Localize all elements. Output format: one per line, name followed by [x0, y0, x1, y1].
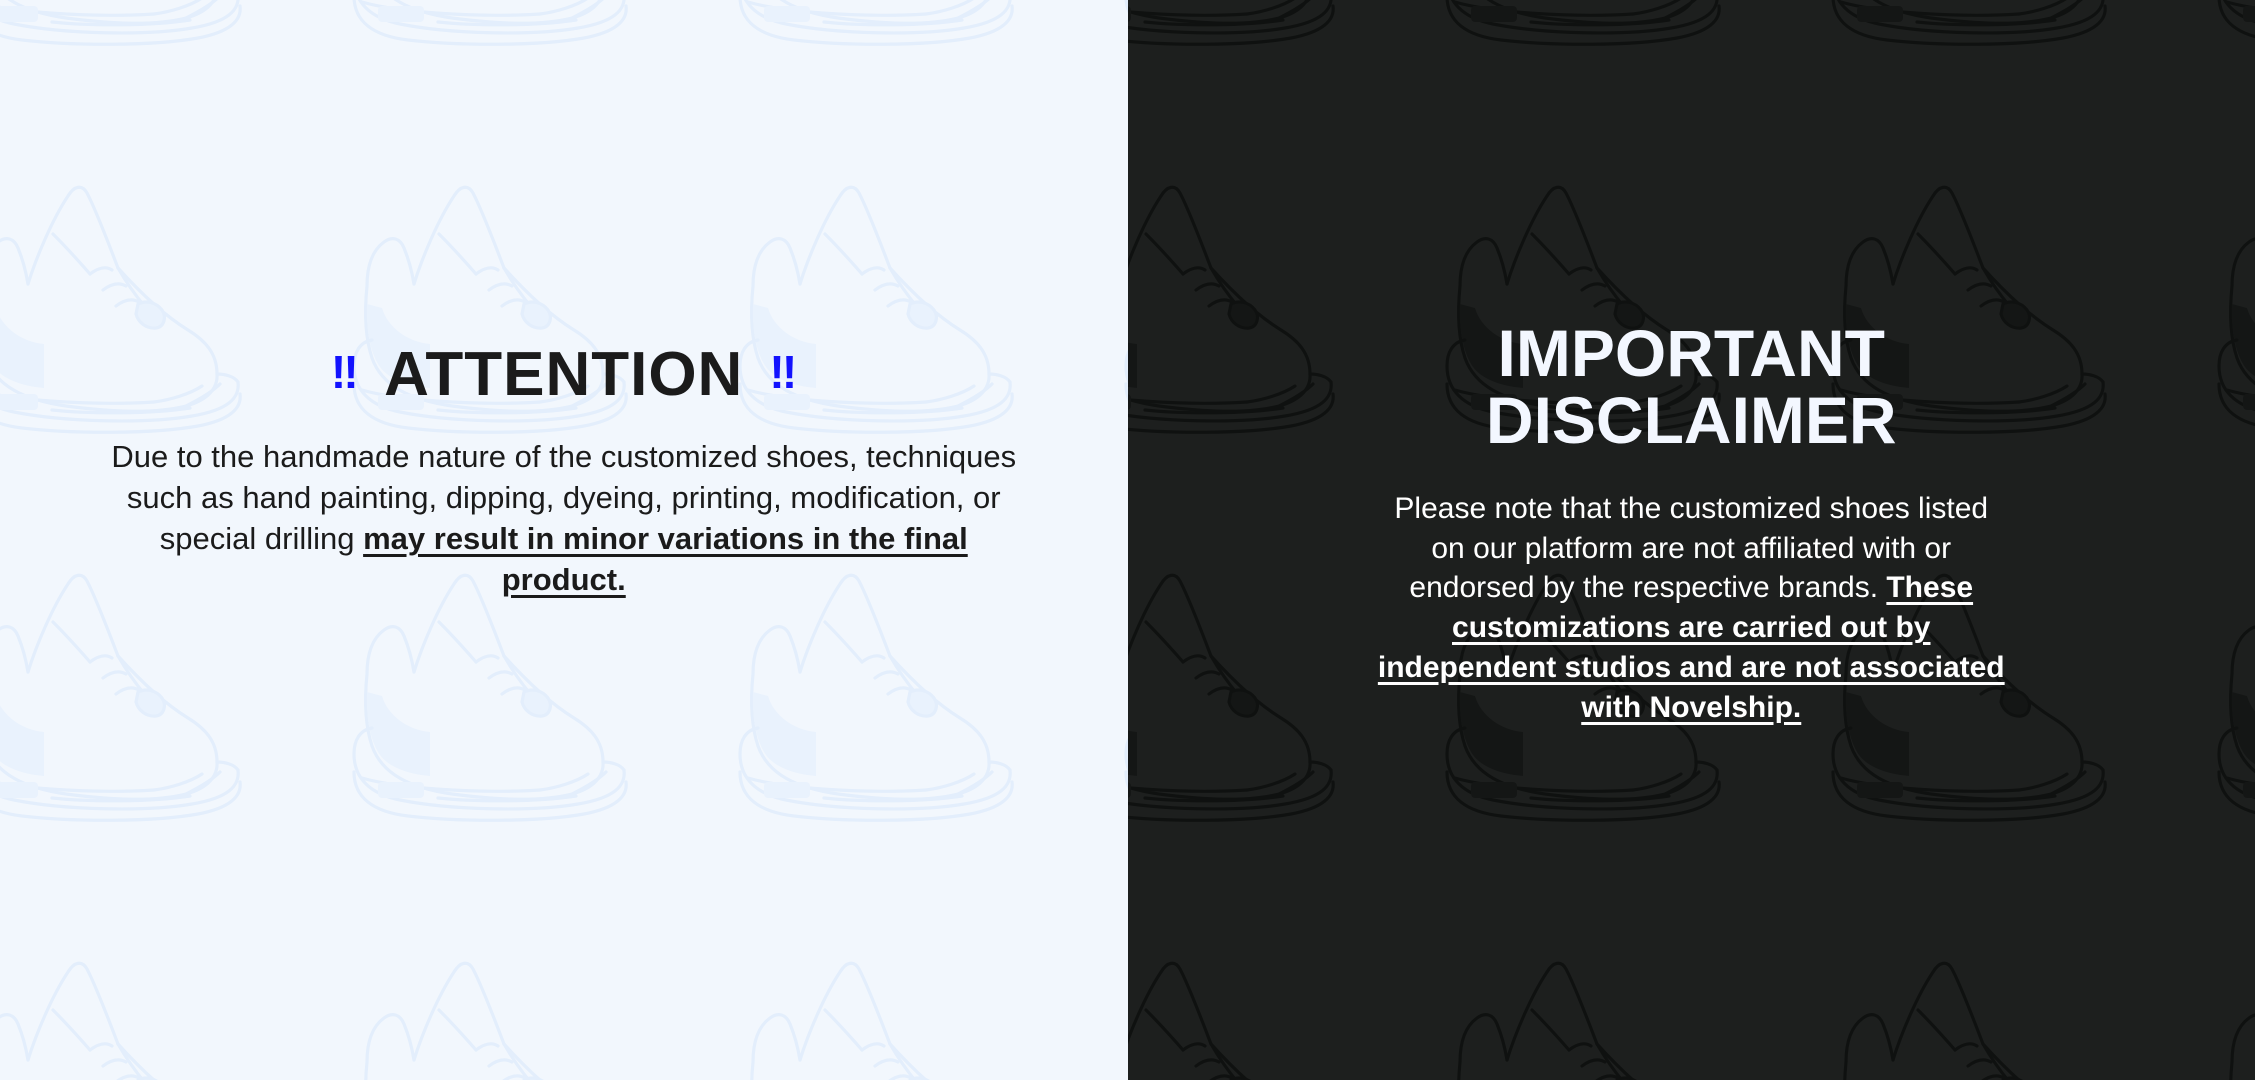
attention-body-text: Due to the handmade nature of the custom…: [110, 436, 1018, 601]
attention-body-emphasis: may result in minor variations in the fi…: [363, 521, 968, 597]
attention-panel: ‼ ATTENTION ‼ Due to the handmade nature…: [0, 0, 1128, 1080]
double-exclamation-icon-right: ‼: [769, 349, 796, 395]
disclaimer-heading-line2: DISCLAIMER: [1486, 383, 1897, 457]
attention-heading: ‼ ATTENTION ‼: [110, 345, 1018, 406]
disclaimer-content: IMPORTANT DISCLAIMER Please note that th…: [1128, 320, 2255, 728]
attention-content: ‼ ATTENTION ‼ Due to the handmade nature…: [0, 345, 1128, 601]
disclaimer-banner: ‼ ATTENTION ‼ Due to the handmade nature…: [0, 0, 2255, 1080]
disclaimer-heading-line1: IMPORTANT: [1498, 316, 1885, 390]
attention-heading-word: ATTENTION: [384, 345, 743, 406]
double-exclamation-icon-left: ‼: [331, 349, 358, 395]
disclaimer-body-text: Please note that the customized shoes li…: [1378, 489, 2006, 728]
disclaimer-heading: IMPORTANT DISCLAIMER: [1378, 320, 2006, 455]
disclaimer-panel: IMPORTANT DISCLAIMER Please note that th…: [1128, 0, 2255, 1080]
